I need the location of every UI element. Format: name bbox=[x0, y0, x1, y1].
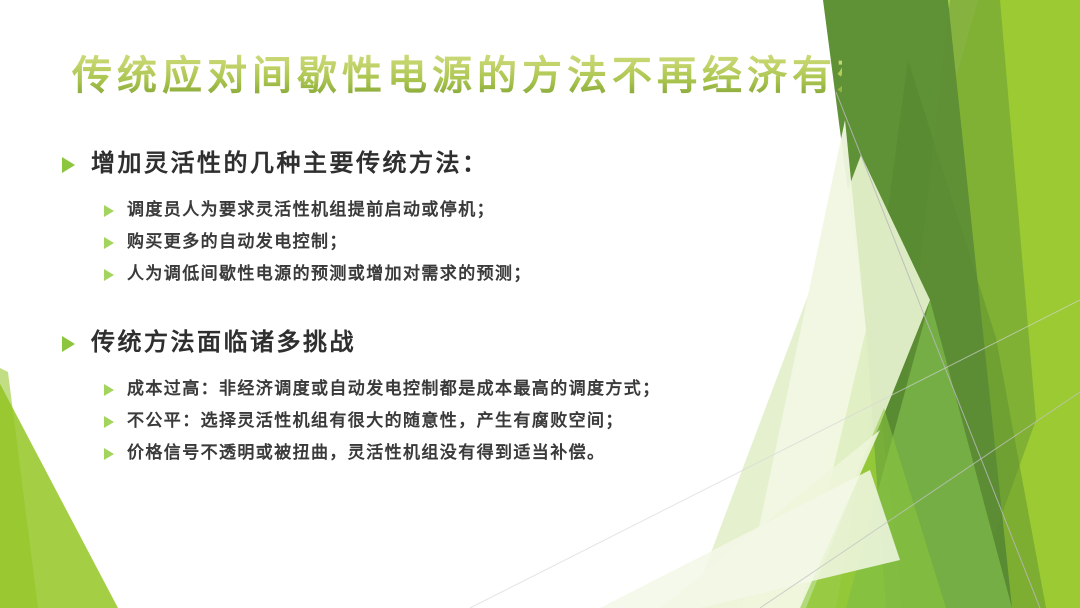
bullet-level1: 传统方法面临诸多挑战 bbox=[62, 327, 802, 360]
bullet-level2: 价格信号不透明或被扭曲，灵活性机组没有得到适当补偿。 bbox=[62, 440, 802, 466]
bullet-level2: 购买更多的自动发电控制； bbox=[62, 229, 802, 255]
bullet-level1-label: 传统方法面临诸多挑战 bbox=[91, 327, 356, 360]
slide-body: 增加灵活性的几种主要传统方法： 调度员人为要求灵活性机组提前启动或停机； 购买更… bbox=[62, 148, 802, 472]
bullet-level2-label: 调度员人为要求灵活性机组提前启动或停机； bbox=[127, 197, 495, 223]
bullet-level2: 调度员人为要求灵活性机组提前启动或停机； bbox=[62, 197, 802, 223]
bullet-level2-label: 成本过高：非经济调度或自动发电控制都是成本最高的调度方式； bbox=[127, 376, 661, 402]
slide-title: 传统应对间歇性电源的方法不再经济有效 bbox=[72, 47, 842, 105]
section-spacer bbox=[62, 293, 802, 327]
facet-dark-band bbox=[900, 0, 1036, 608]
triangle-right-icon bbox=[62, 336, 75, 352]
hairline-lower bbox=[760, 392, 1080, 608]
triangle-right-small-icon bbox=[104, 237, 114, 249]
triangle-right-small-icon bbox=[104, 448, 114, 460]
facet-mid-green-sheet bbox=[846, 300, 1012, 608]
facet-light-sheet-lower bbox=[800, 408, 946, 608]
triangle-right-small-icon bbox=[104, 269, 114, 281]
hairline-upper bbox=[836, 92, 1040, 608]
bullet-level2-label: 人为调低间歇性电源的预测或增加对需求的预测； bbox=[127, 261, 532, 287]
triangle-right-small-icon bbox=[104, 205, 114, 217]
bullet-level2-label: 不公平：选择灵活性机组有很大的随意性，产生有腐败空间； bbox=[127, 408, 624, 434]
bullet-level1: 增加灵活性的几种主要传统方法： bbox=[62, 148, 802, 181]
bullet-level2: 成本过高：非经济调度或自动发电控制都是成本最高的调度方式； bbox=[62, 376, 802, 402]
bullet-level2: 不公平：选择灵活性机组有很大的随意性，产生有腐败空间； bbox=[62, 408, 802, 434]
triangle-right-icon bbox=[62, 157, 75, 173]
bullet-level1-label: 增加灵活性的几种主要传统方法： bbox=[91, 148, 489, 181]
corner-wedge-bottom-left-inner bbox=[0, 368, 38, 608]
bullet-level2-label: 购买更多的自动发电控制； bbox=[127, 229, 348, 255]
slide-canvas: 传统应对间歇性电源的方法不再经济有效 增加灵活性的几种主要传统方法： 调度员人为… bbox=[0, 0, 1080, 608]
bullet-level2: 人为调低间歇性电源的预测或增加对需求的预测； bbox=[62, 261, 802, 287]
bullet-level2-label: 价格信号不透明或被扭曲，灵活性机组没有得到适当补偿。 bbox=[127, 440, 605, 466]
triangle-right-small-icon bbox=[104, 416, 114, 428]
facet-mid-green-overlay bbox=[872, 60, 1046, 608]
facet-pale-diagonal-stripe bbox=[600, 470, 900, 608]
triangle-right-small-icon bbox=[104, 384, 114, 396]
